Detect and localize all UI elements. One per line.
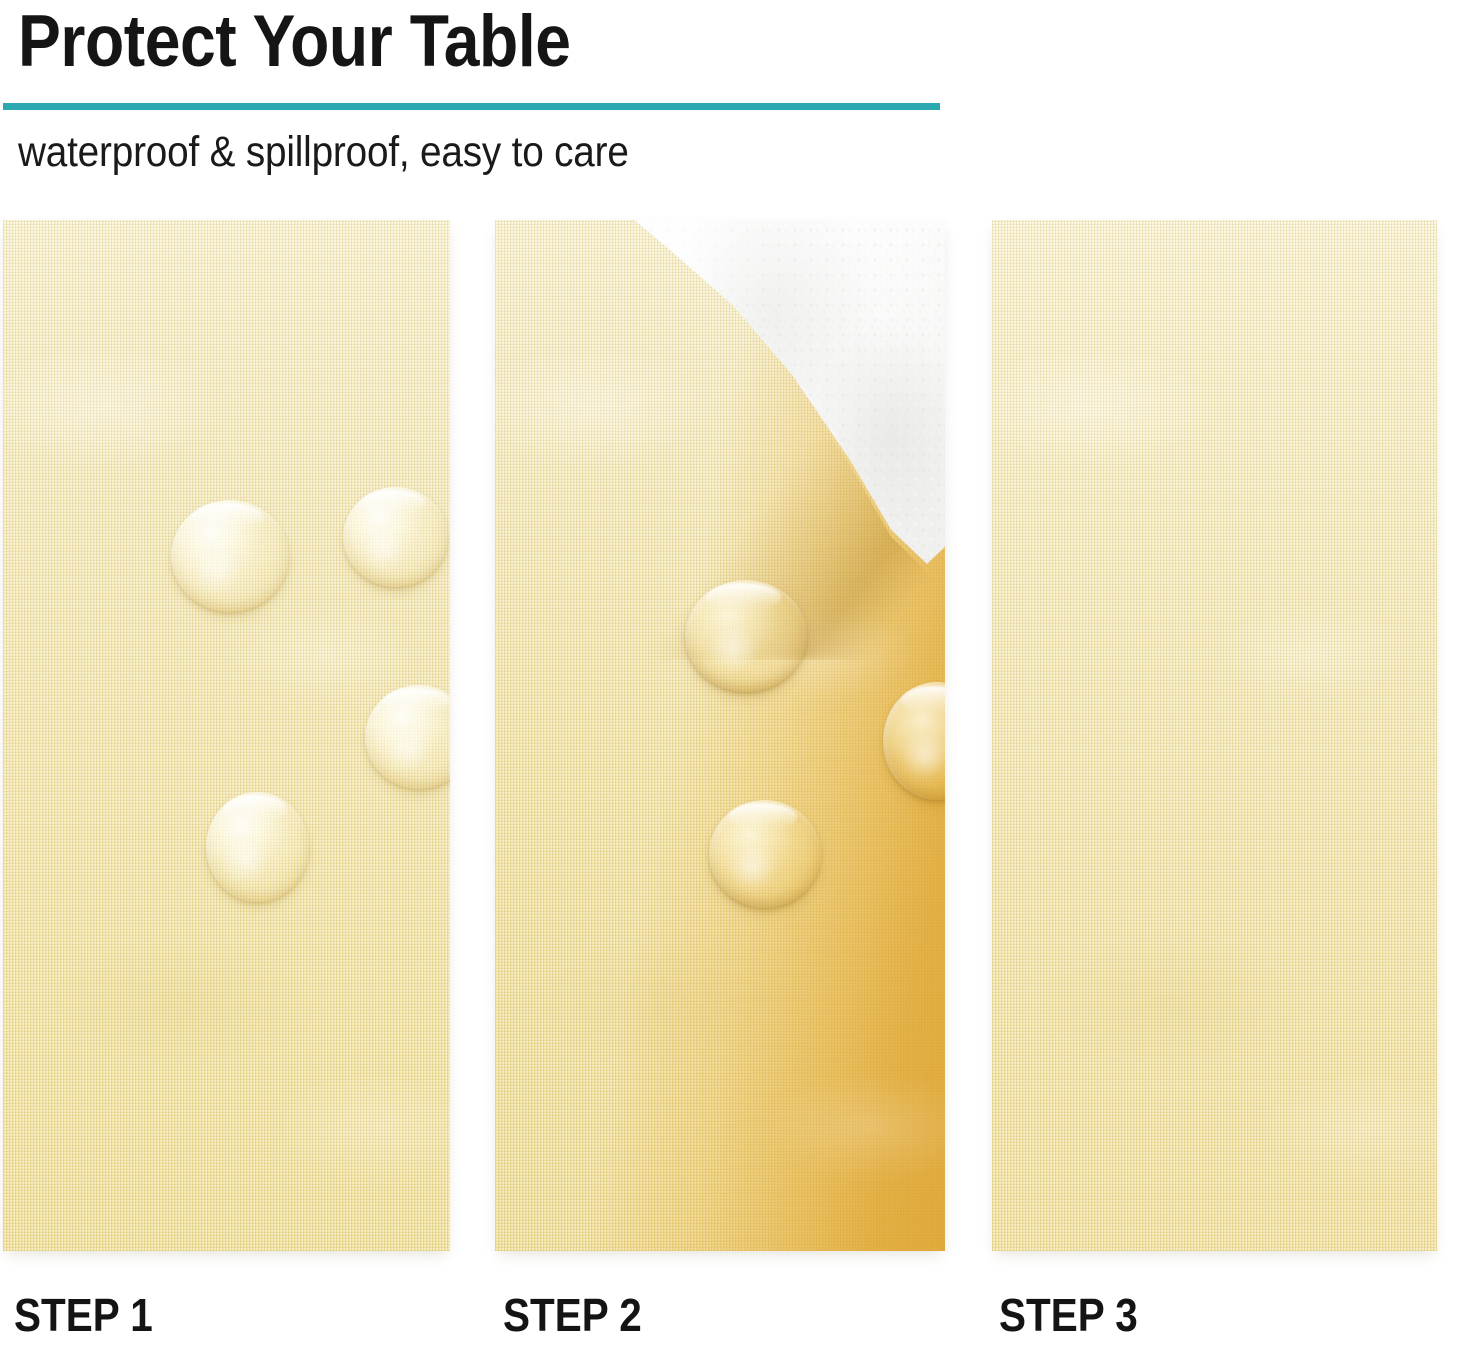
yellow-fabric-texture bbox=[992, 220, 1437, 1251]
water-droplet bbox=[685, 580, 807, 692]
water-droplet bbox=[206, 792, 309, 902]
fabric-slub bbox=[992, 220, 1437, 1251]
accent-divider bbox=[3, 103, 940, 110]
step-3-image bbox=[992, 220, 1437, 1251]
step-3-label: STEP 3 bbox=[999, 1285, 1138, 1345]
header: Protect Your Table waterproof & spillpro… bbox=[0, 0, 1458, 200]
step-labels: STEP 1 STEP 2 STEP 3 bbox=[0, 1285, 1458, 1363]
water-droplet bbox=[343, 487, 448, 587]
step-2-image bbox=[495, 220, 945, 1251]
page-title: Protect Your Table bbox=[18, 2, 571, 82]
step-1-image bbox=[3, 220, 450, 1251]
step-1-label: STEP 1 bbox=[14, 1285, 153, 1345]
step-image-strip bbox=[0, 220, 1458, 1251]
page-subtitle: waterproof & spillproof, easy to care bbox=[18, 126, 629, 178]
water-droplet bbox=[171, 500, 289, 612]
step-2-label: STEP 2 bbox=[503, 1285, 642, 1345]
water-droplet bbox=[709, 800, 821, 908]
